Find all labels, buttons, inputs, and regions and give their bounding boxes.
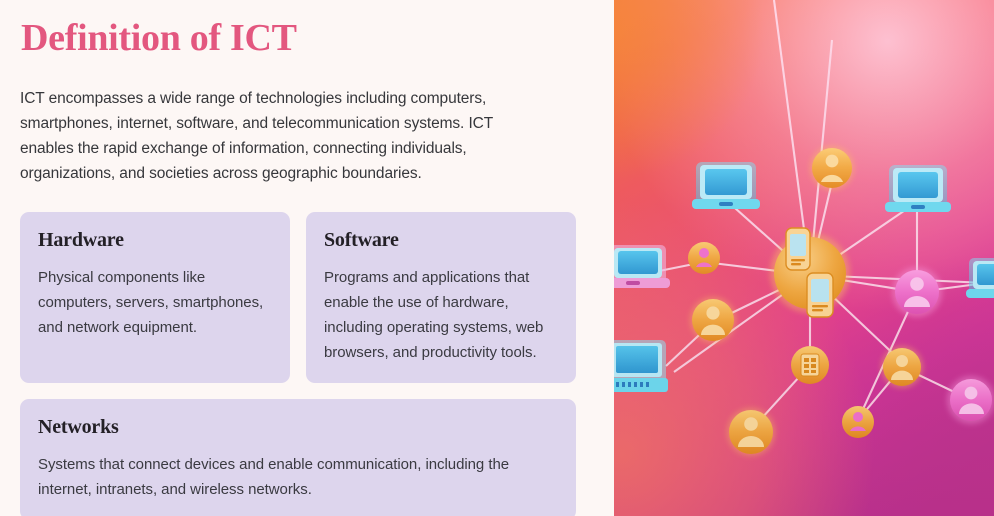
phone-icon-upper xyxy=(786,228,810,270)
laptop-icon-top-left xyxy=(692,162,760,209)
network-graphic xyxy=(614,0,994,516)
avatar-node-bottom-right xyxy=(947,376,994,424)
card-software-title: Software xyxy=(324,228,558,252)
avatar-node-lower-right xyxy=(881,346,923,388)
laptop-icon-right-edge xyxy=(966,258,994,298)
avatar-node-small-bottom xyxy=(842,406,874,438)
card-software-body: Programs and applications that enable th… xyxy=(324,265,558,365)
avatar-node-lower-center xyxy=(727,408,775,456)
network-illustration xyxy=(614,0,994,516)
avatar-node-top-center xyxy=(810,146,854,190)
laptop-icon-top-right xyxy=(885,165,951,212)
card-networks-title: Networks xyxy=(38,415,558,439)
ict-definition-page: Definition of ICT ICT encompasses a wide… xyxy=(0,0,994,516)
laptop-icon-mid-left xyxy=(614,245,670,288)
card-hardware-title: Hardware xyxy=(38,228,272,252)
card-hardware-body: Physical components like computers, serv… xyxy=(38,265,272,340)
card-hardware[interactable]: Hardware Physical components like comput… xyxy=(20,212,290,383)
server-node-icon xyxy=(791,346,829,384)
hub-node-center xyxy=(770,228,850,317)
avatar-node-mid-left xyxy=(690,297,736,343)
page-title: Definition of ICT xyxy=(21,12,594,60)
avatar-node-small-left xyxy=(688,242,720,274)
content-pane: Definition of ICT ICT encompasses a wide… xyxy=(0,0,614,516)
card-networks[interactable]: Networks Systems that connect devices an… xyxy=(20,399,576,516)
avatar-node-right-pink xyxy=(892,267,942,317)
card-networks-body: Systems that connect devices and enable … xyxy=(38,452,558,502)
card-software[interactable]: Software Programs and applications that … xyxy=(306,212,576,383)
phone-icon-lower xyxy=(807,273,833,317)
concept-card-row: Hardware Physical components like comput… xyxy=(20,212,594,383)
intro-paragraph: ICT encompasses a wide range of technolo… xyxy=(20,86,520,187)
desktop-icon-lower-left xyxy=(614,340,668,392)
